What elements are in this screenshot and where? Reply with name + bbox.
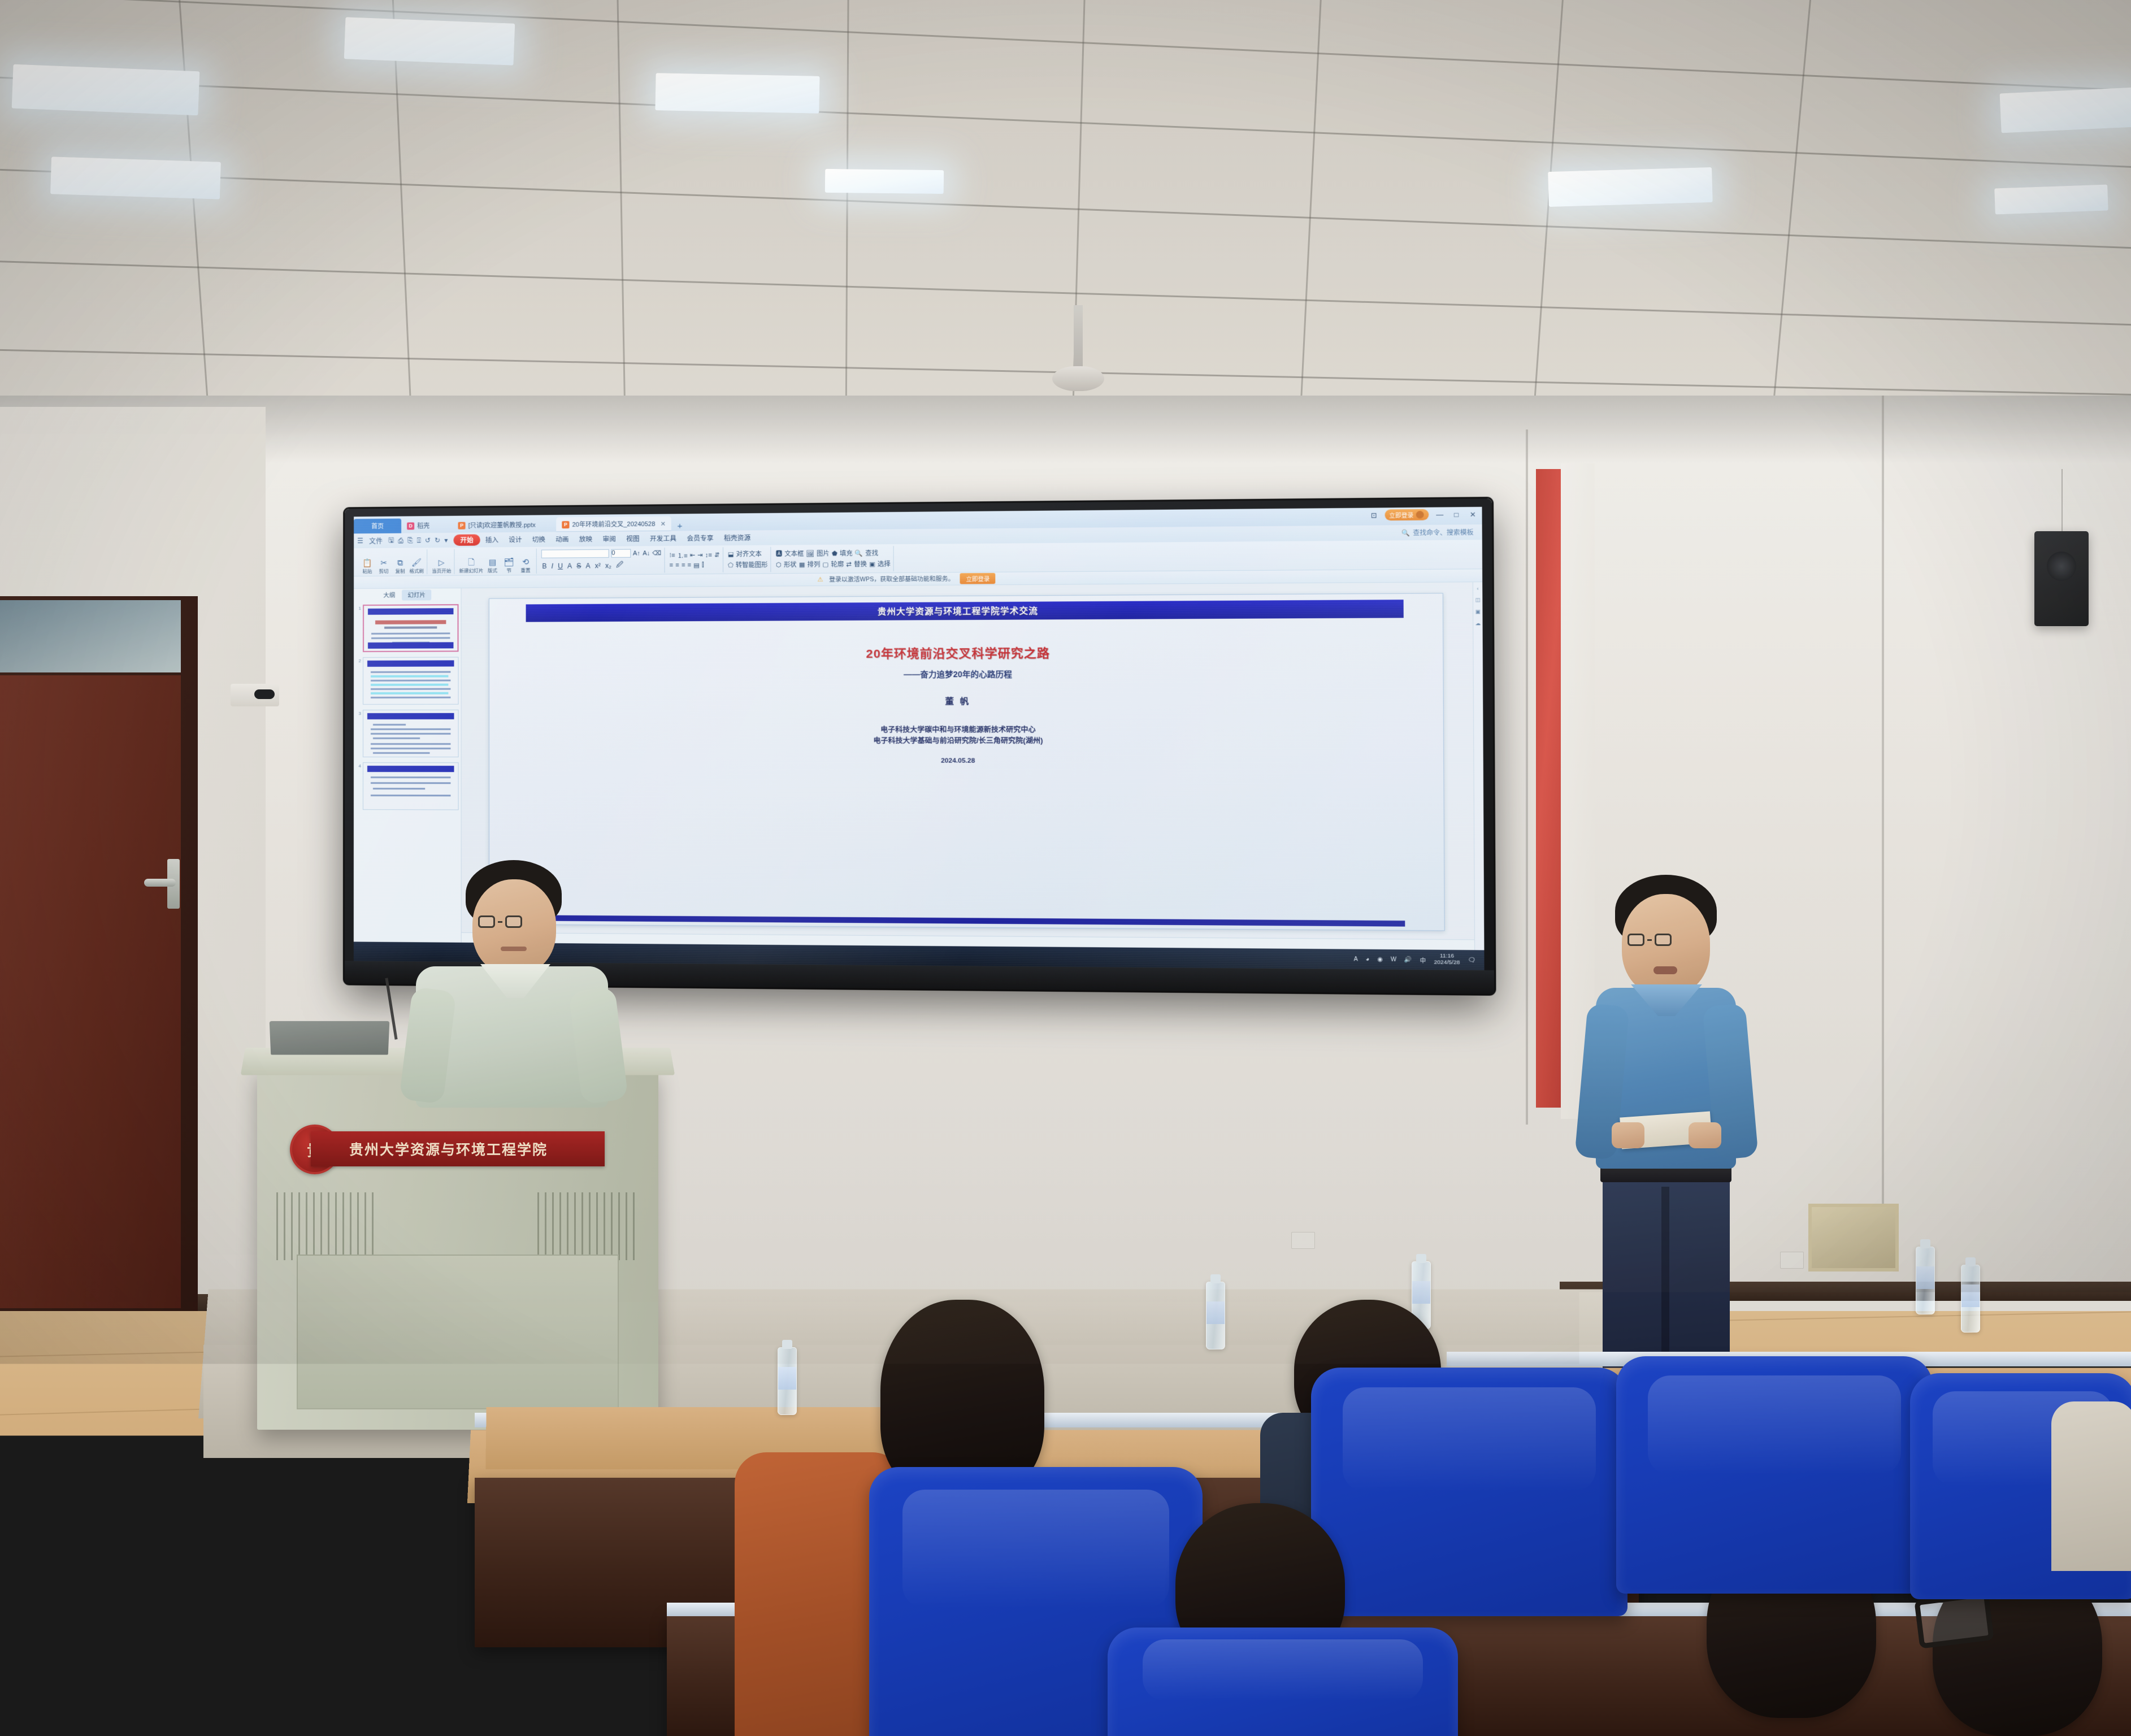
highlight-icon[interactable]: 🖉 [615,559,624,571]
screenshot-icon[interactable]: ⊡ [1368,511,1379,519]
ceiling-light-panel [344,17,515,65]
avatar [1416,511,1424,519]
ribbon-tab-developer[interactable]: 开发工具 [645,533,682,545]
minimize-button[interactable]: — [1434,510,1446,519]
smartart-row: ⬠ 转智能图形 [728,560,768,570]
ppt-icon: P [562,521,569,528]
bullet-list-icon[interactable]: ⁝≡ [670,552,675,559]
affiliation-line-1: 电子科技大学碳中和与环境能源新技术研究中心 [874,724,1043,736]
shadow-button[interactable]: A [566,562,573,570]
bold-button[interactable]: B [541,562,548,570]
presenter-glasses [478,915,522,928]
audience-chair[interactable] [1311,1368,1627,1616]
font-size-input[interactable]: 0 [611,549,631,558]
start-from-current-button[interactable]: ▷ 当页开始 [432,558,451,574]
docer-icon: D [407,522,414,530]
thumbnail-slide-4[interactable] [363,762,459,810]
wall-camera [231,684,279,706]
ceiling-light-panel [12,64,200,116]
podium-laptop [270,1021,390,1055]
water-bottle[interactable] [1916,1247,1935,1314]
wall-outlet [1291,1232,1315,1249]
paste-icon: 📋 [362,558,372,566]
replace-label: 替换 [854,559,867,568]
presenter-at-podium [396,848,639,1085]
text-direction-icon[interactable]: ⇵ [714,551,719,558]
ribbon-tab-animation[interactable]: 动画 [550,533,574,545]
print-preview-icon[interactable]: ⍐ [417,536,421,545]
justify-icon[interactable]: ≡ [688,562,692,568]
decrease-indent-icon[interactable]: ⇤ [690,552,695,559]
textbox-label: 文本框 [784,549,804,558]
select-icon[interactable]: ▣ [869,560,875,567]
subscript-icon[interactable]: x₂ [604,561,613,569]
podium-vent-right [537,1192,639,1260]
cloud-icon[interactable]: ◉ [1377,956,1382,963]
shape-icon[interactable]: ⬡ [776,561,782,568]
slide-title: 20年环境前沿交叉科学研究之路 [866,644,1049,662]
smartart-icon[interactable]: ⬠ [728,561,734,568]
align-center-icon[interactable]: ≡ [675,562,679,568]
volume-icon[interactable]: 🔊 [1404,956,1412,963]
clear-format-icon[interactable]: ⌫ [652,549,661,557]
increase-font-icon[interactable]: A↑ [633,550,640,557]
italic-button[interactable]: I [550,562,554,570]
ceiling-light-panel [1994,185,2108,215]
search-placeholder: 查找命令、搜索模板 [1413,527,1473,537]
audience-glasses [1914,1591,1994,1648]
new-slide-icon: 🗋 [468,558,474,566]
outline-label: 轮廓 [831,559,844,568]
warning-icon: ⚠ [818,576,823,583]
section-icon: 🗂 [504,558,514,566]
strikethrough-button[interactable]: S [575,562,582,570]
align-row: ≡ ≡ ≡ ≡ ▤ ⫿ [670,561,704,569]
find-label: 查找 [865,548,878,557]
water-bottle[interactable] [1206,1282,1225,1349]
cut-label: 剪切 [379,567,389,574]
wall-picture-frame [1808,1204,1899,1271]
cut-icon: ✂ [380,558,387,566]
podium-vent-left [276,1192,378,1260]
maximize-button[interactable]: □ [1451,510,1462,519]
speaker-hand-right [1689,1122,1721,1148]
projector-disc [1052,366,1104,391]
wall-top-shadow [0,396,2131,463]
login-now-button[interactable]: 立即登录 [960,573,996,584]
ceiling-light-panel [2000,88,2131,133]
rail-collapse-icon[interactable]: ‹ [1477,585,1478,591]
login-badge[interactable]: 立即登录 [1385,509,1429,520]
columns-icon[interactable]: ⫿ [702,561,704,568]
align-text-label: 对齐文本 [736,549,762,559]
audience-chair[interactable] [1616,1356,1933,1594]
thumbnail-number: 4 [356,762,361,769]
align-left-icon[interactable]: ≡ [670,562,674,568]
ceiling-light-panel [1548,167,1713,207]
smartart-label: 转智能图形 [736,560,768,570]
format-painter-icon: 🖌 [411,558,422,566]
fill-icon[interactable]: ⬟ [832,549,837,557]
replace-icon[interactable]: ⇄ [846,561,852,568]
tab-outline[interactable]: 大纲 [383,591,395,599]
slide-footer-bar [526,915,1405,926]
redo-icon[interactable]: ↻ [435,536,440,544]
arrange-icon[interactable]: ▦ [799,561,805,568]
presenter-mouth [501,947,527,951]
customize-icon[interactable]: ▾ [444,536,448,544]
speaker-hand-left [1612,1122,1644,1148]
reset-icon: ⟲ [522,557,529,565]
ribbon-tab-insert[interactable]: 插入 [480,534,504,545]
wps-tray-icon[interactable]: W [1391,956,1396,963]
drawing-group: 🅰 文本框 🖼 图片 ⬟ 填充 🔍 查找 ⬡ 形状 ▦ [773,546,894,572]
thumbnail-slide-3[interactable] [363,710,459,757]
slides-group: 🗋 新建幻灯片 ▤ 版式 🗂 节 ⟲ 重置 [456,548,536,574]
window-controls: ⊡ 立即登录 — □ ✕ [1368,509,1478,520]
save-icon[interactable]: 🖫 [388,535,394,546]
lecture-hall-scene: 首页 D 稻壳 P [只读]欢迎董帆教授.pptx P 20年环境前沿交叉_20… [0,0,2131,1736]
print-icon[interactable]: ⎘ [407,536,413,545]
format-painter-button[interactable]: 🖌 格式刷 [409,558,424,574]
copy-button[interactable]: ⧉ 复制 [393,558,407,574]
ribbon-tab-transition[interactable]: 切换 [527,533,550,545]
slide-date: 2024.05.28 [941,757,975,764]
network-icon[interactable]: ◕ [1366,956,1370,963]
podium: 贵 贵州大学资源与环境工程学院 [257,1068,658,1430]
quick-access-toolbar: 🖫 ⎙ ⎘ ⍐ ↺ ↻ ▾ [388,534,448,546]
distribute-icon[interactable]: ▤ [693,561,700,568]
layout-icon: ▤ [489,558,496,566]
list-row: ⁝≡ ⒈≡ ⇤ ⇥ ↕≡ ⇵ [670,550,720,560]
cut-button[interactable]: ✂ 剪切 [376,558,391,574]
font-group: 0 A↑ A↓ ⌫ B I U A S A x² [538,548,665,574]
slide-author: 董 帆 [945,695,970,708]
standing-speaker [1548,870,1774,1396]
login-badge-label: 立即登录 [1389,510,1413,519]
picture-label: 图片 [817,549,830,558]
list-item[interactable]: 4 [356,762,459,810]
find-icon[interactable]: 🔍 [855,549,863,557]
thumbnail-slide-1[interactable] [363,604,459,652]
thumbnail-number: 2 [356,657,361,663]
tab-file-readonly[interactable]: P [只读]欢迎董帆教授.pptx [452,517,541,532]
ribbon-tab-review[interactable]: 审阅 [597,533,621,544]
decrease-font-icon[interactable]: A↓ [643,550,650,557]
audience-shoulder-white [1379,1684,1616,1736]
tab-file-active-label: 20年环境前沿交叉_20240528 [572,519,656,529]
tab-file-active[interactable]: P 20年环境前沿交叉_20240528 ✕ [556,516,671,532]
door-transom-glass [0,600,181,672]
tab-file-readonly-label: [只读]欢迎董帆教授.pptx [468,520,536,530]
line-spacing-icon[interactable]: ↕≡ [705,552,712,558]
reset-label: 重置 [520,567,530,574]
rail-design-icon[interactable]: ◫ [1475,597,1481,604]
copy-icon: ⧉ [397,558,403,566]
ribbon-tab-docer[interactable]: 稻壳资源 [719,532,756,544]
rail-shape-icon[interactable]: ▣ [1475,609,1481,615]
outline-icon[interactable]: ▢ [822,561,828,568]
ceiling-light-panel [655,73,819,114]
list-item[interactable]: 3 [356,710,459,757]
close-tab-icon[interactable]: ✕ [661,520,666,527]
water-bottle[interactable] [778,1347,797,1415]
ribbon-search[interactable]: 🔍 查找命令、搜索模板 [1401,527,1478,537]
wall-outlet [1780,1252,1804,1269]
text-tools-group: ⬓ 对齐文本 ⬠ 转智能图形 [725,546,771,572]
shape-label: 形状 [784,560,797,569]
login-warning-message: 登录以激活WPS，获取全部基础功能和服务。 [829,574,954,584]
tab-docer[interactable]: D 稻壳 [401,518,435,533]
align-text-icon[interactable]: ⬓ [728,550,734,558]
playback-group: ▷ 当页开始 [429,549,454,574]
speaker-wire [2061,469,2063,534]
new-slide-button[interactable]: 🗋 新建幻灯片 [459,558,484,574]
layout-label: 版式 [488,567,497,574]
notification-icon[interactable]: 🗨 [1468,957,1475,964]
taskbar-date: 2024/5/28 [1434,960,1460,966]
format-row: B I U A S A x² x₂ 🖉 [541,559,624,572]
rail-cloud-icon[interactable]: ☁ [1475,620,1481,627]
undo-icon[interactable]: ↺ [425,536,431,544]
select-label: 选择 [878,559,891,568]
ribbon-tab-start[interactable]: 开始 [453,534,480,545]
ribbon-tab-slideshow[interactable]: 放映 [574,533,598,545]
slide-affiliation: 电子科技大学碳中和与环境能源新技术研究中心 电子科技大学基础与前沿研究院/长三角… [874,724,1043,747]
textbox-icon[interactable]: 🅰 [776,549,782,558]
speaker-mouth [1653,966,1677,974]
list-item[interactable]: 2 [356,657,459,705]
start-from-current-label: 当页开始 [432,567,451,574]
font-color-button[interactable]: A [585,562,592,570]
underline-button[interactable]: U [557,562,564,570]
entrance-door[interactable] [0,675,181,1308]
reset-button[interactable]: ⟲ 重置 [518,557,533,573]
clipboard-group: 📋 粘贴 ✂ 剪切 ⧉ 复制 🖌 格式刷 [357,549,427,575]
list-item[interactable]: 1 [356,604,458,652]
thumbnail-slide-2[interactable] [363,657,459,705]
arrange-label: 排列 [808,559,821,568]
play-icon: ▷ [439,558,445,566]
podium-sign: 贵州大学资源与环境工程学院 [311,1131,605,1166]
slide-subtitle: ——奋力追梦20年的心路历程 [904,669,1012,680]
right-task-rail: ‹ ◫ ▣ ☁ [1473,582,1485,956]
fill-label: 填充 [840,549,853,558]
paragraph-group: ⁝≡ ⒈≡ ⇤ ⇥ ↕≡ ⇵ ≡ ≡ ≡ ≡ ▤ [666,547,723,572]
font-name-input[interactable] [541,549,609,558]
format-painter-label: 格式刷 [409,567,424,574]
water-bottle[interactable] [1961,1265,1980,1333]
ribbon-tab-member[interactable]: 会员专享 [682,532,719,544]
section-button[interactable]: 🗂 节 [502,558,517,574]
wall-corner-seam [1882,396,1884,1243]
thumbnail-number: 1 [356,605,361,611]
thumbnail-view-tabs: 大纲 幻灯片 [354,588,461,601]
language-icon[interactable]: 中 [1420,955,1426,964]
paste-label: 粘贴 [363,567,372,574]
section-label: 节 [506,567,511,574]
wall-corner-seam [1526,429,1528,1125]
numbered-list-icon[interactable]: ⒈≡ [678,550,688,559]
close-button[interactable]: ✕ [1468,510,1479,519]
search-icon: 🔍 [1401,529,1410,537]
superscript-icon[interactable]: x² [594,562,602,570]
file-menu-label: 文件 [369,536,383,545]
tab-slides[interactable]: 幻灯片 [402,589,431,600]
picture-icon[interactable]: 🖼 [806,550,814,557]
align-text-row: ⬓ 对齐文本 [728,549,762,559]
layout-button[interactable]: ▤ 版式 [485,558,500,574]
new-slide-label: 新建幻灯片 [459,567,484,574]
affiliation-line-2: 电子科技大学基础与前沿研究院/长三角研究院(湖州) [874,736,1043,747]
shape-row: ⬡ 形状 ▦ 排列 ▢ 轮廓 ⇄ 替换 ▣ 选择 [776,559,891,570]
ribbon-tab-view[interactable]: 视图 [621,533,645,545]
align-right-icon[interactable]: ≡ [682,562,685,568]
wall-speaker [2034,531,2089,626]
thumbnail-number: 3 [356,710,361,716]
ribbon-tab-design[interactable]: 设计 [504,534,527,545]
copy-label: 复制 [396,567,405,574]
tab-docer-label: 稻壳 [417,521,429,530]
file-menu[interactable]: ☰ 文件 [357,536,383,545]
textbox-row: 🅰 文本框 🖼 图片 ⬟ 填充 🔍 查找 [776,548,878,558]
ppt-icon: P [458,522,465,529]
save-as-icon[interactable]: ⎙ [398,536,403,545]
slide-header-banner: 贵州大学资源与环境工程学院学术交流 [526,600,1404,622]
increase-indent-icon[interactable]: ⇥ [697,552,702,559]
font-row: 0 A↑ A↓ ⌫ [541,549,661,558]
podium-front-panel [297,1255,619,1409]
ceiling-light-panel [825,169,944,194]
audience-member-right-edge [2051,1401,2131,1571]
taskbar-clock[interactable]: 11:16 2024/5/28 [1434,953,1460,966]
tab-home[interactable]: 首页 [354,519,401,534]
door-handle[interactable] [144,879,176,887]
paste-button[interactable]: 📋 粘贴 [360,558,375,574]
ime-icon[interactable]: A [1354,956,1358,963]
ceiling-light-panel [50,157,221,199]
speaker-glasses [1627,934,1672,946]
new-tab-button[interactable]: + [671,521,688,531]
